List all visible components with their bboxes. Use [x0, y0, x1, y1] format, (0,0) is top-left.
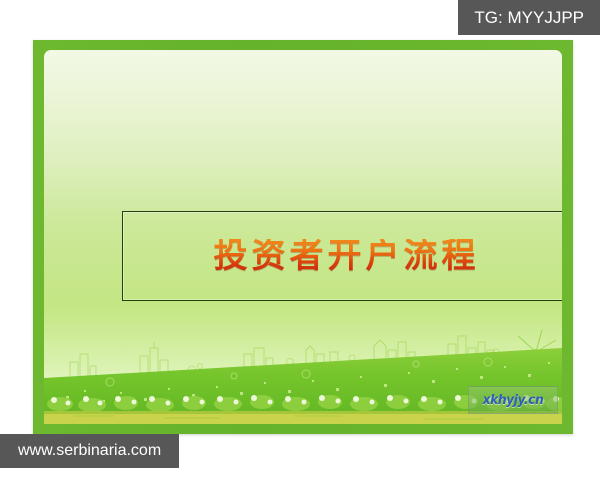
page-title: 投资者开户流程: [214, 239, 480, 273]
site-logo-badge: xkhyjy.cn: [468, 386, 558, 414]
slide-canvas: 投资者开户流程 xkhyjy.cn: [44, 50, 562, 424]
slide-frame: 投资者开户流程 xkhyjy.cn: [33, 40, 573, 434]
watermark-top-right: TG: MYYJJPP: [458, 0, 600, 35]
watermark-bottom-left: www.serbinaria.com: [0, 434, 179, 468]
canvas-top-sheen: [44, 50, 562, 222]
site-logo-text: xkhyjy.cn: [483, 393, 544, 408]
slide-title-box: 投资者开户流程: [122, 211, 562, 301]
